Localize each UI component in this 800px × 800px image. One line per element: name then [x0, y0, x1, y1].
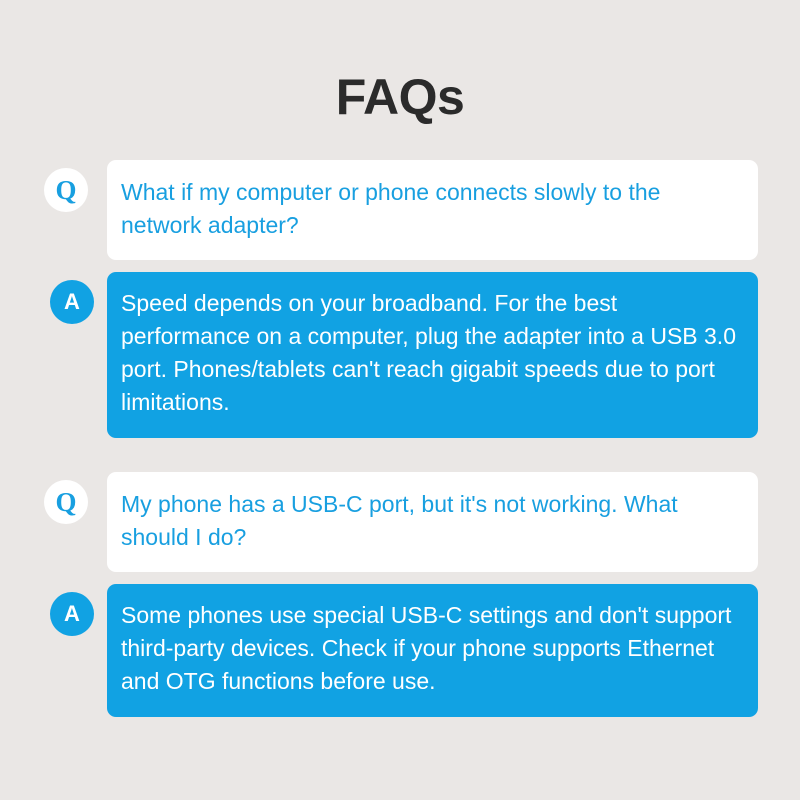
faq-list: Q What if my computer or phone connects …	[0, 160, 800, 717]
faq-item: Q My phone has a USB-C port, but it's no…	[0, 472, 800, 717]
faq-question-row[interactable]: Q What if my computer or phone connects …	[0, 160, 800, 260]
question-badge-icon: Q	[44, 480, 88, 524]
faq-item: Q What if my computer or phone connects …	[0, 160, 800, 438]
page-title: FAQs	[0, 0, 800, 122]
answer-badge-icon: A	[50, 280, 94, 324]
faq-answer-row: A Speed depends on your broadband. For t…	[0, 272, 800, 438]
faq-question-row[interactable]: Q My phone has a USB-C port, but it's no…	[0, 472, 800, 572]
faq-answer-text: Speed depends on your broadband. For the…	[107, 272, 758, 438]
faq-question-text: What if my computer or phone connects sl…	[107, 160, 758, 260]
faq-answer-row: A Some phones use special USB-C settings…	[0, 584, 800, 717]
question-badge-icon: Q	[44, 168, 88, 212]
faq-question-text: My phone has a USB-C port, but it's not …	[107, 472, 758, 572]
answer-badge-icon: A	[50, 592, 94, 636]
faq-answer-text: Some phones use special USB-C settings a…	[107, 584, 758, 717]
faq-page: FAQs Q What if my computer or phone conn…	[0, 0, 800, 800]
